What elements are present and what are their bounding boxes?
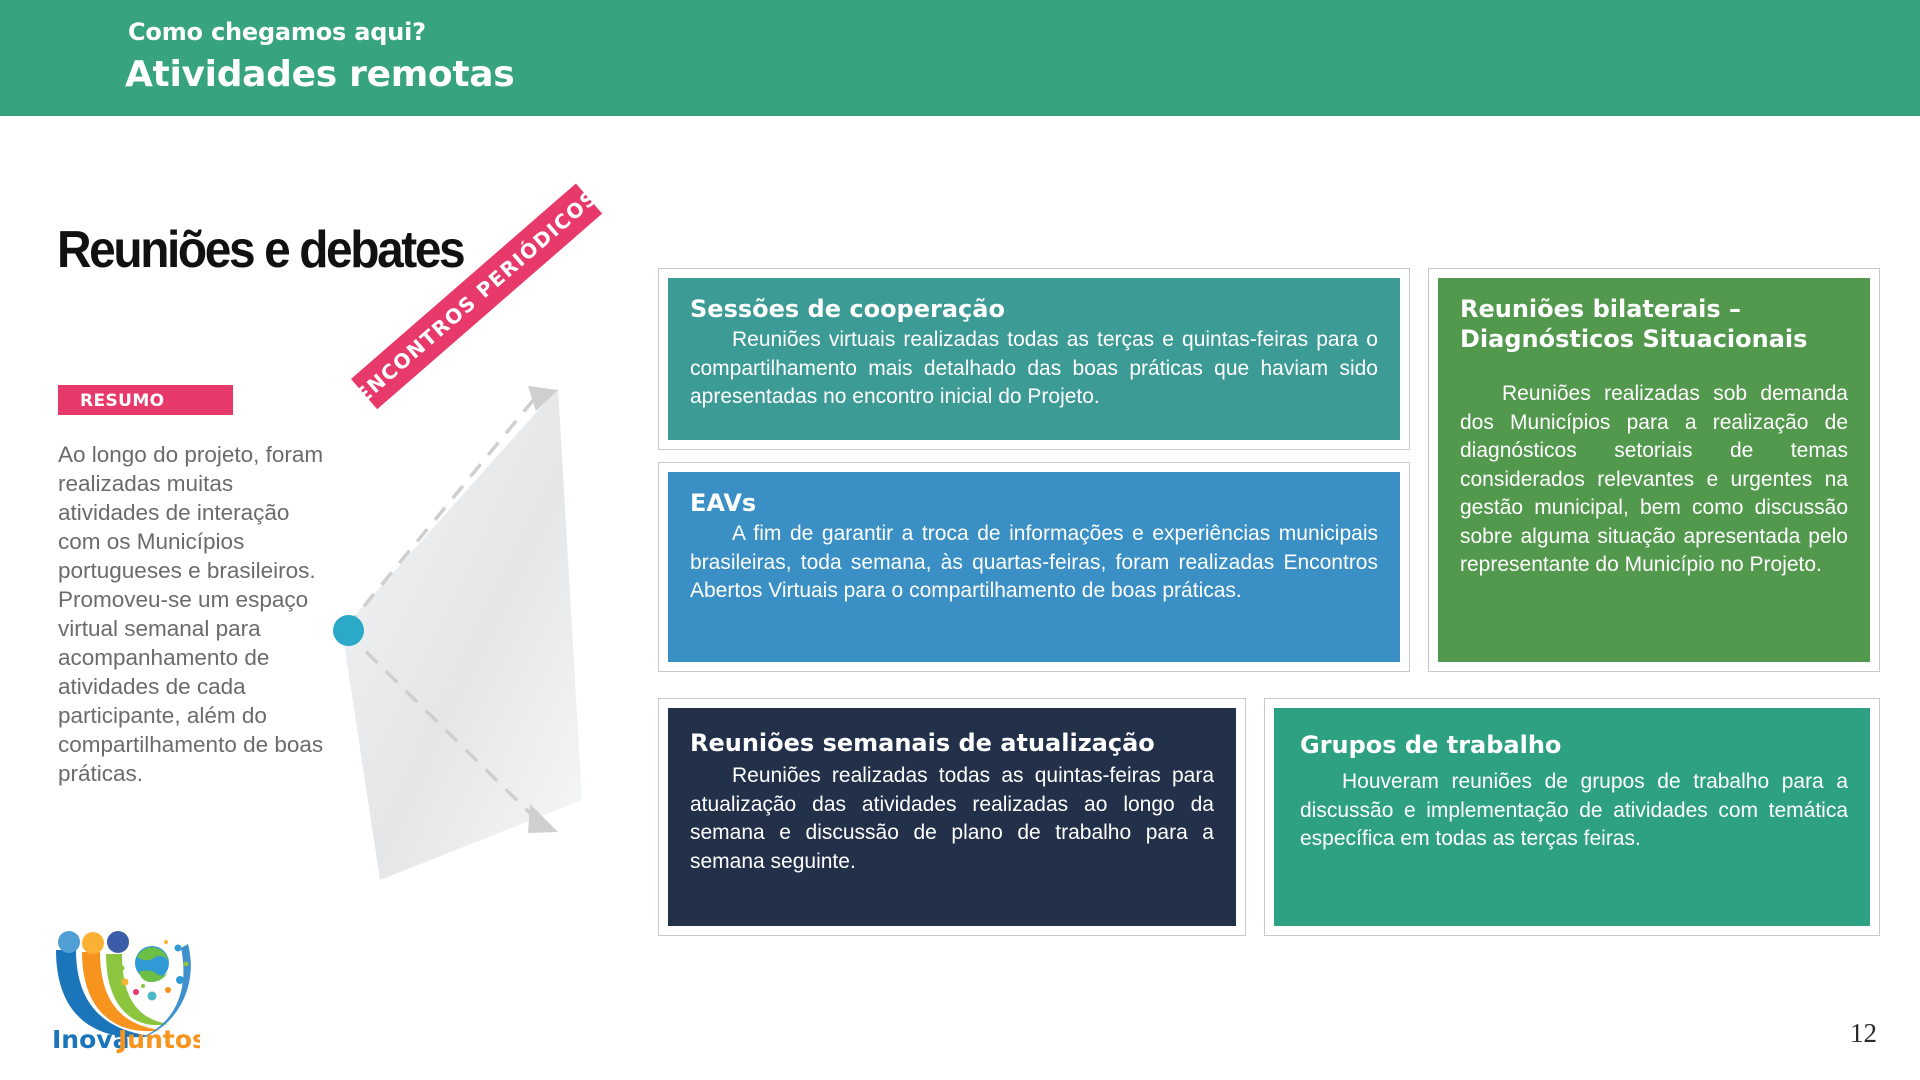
card-text: Reuniões realizadas todas as quintas-fei… bbox=[690, 762, 1214, 876]
header-eyebrow: Como chegamos aqui? bbox=[128, 18, 426, 46]
card-body: Reuniões semanais de atualização Reuniõe… bbox=[668, 708, 1236, 926]
card-body: Grupos de trabalho Houveram reuniões de … bbox=[1274, 708, 1870, 926]
card-title: Reuniões semanais de atualização bbox=[690, 728, 1214, 758]
card-title: EAVs bbox=[690, 488, 1378, 518]
wedge-shape bbox=[342, 388, 582, 880]
card-text: Reuniões realizadas sob demanda dos Muni… bbox=[1460, 380, 1848, 580]
status-badge-label: RESUMO bbox=[80, 391, 165, 411]
status-badge: RESUMO bbox=[58, 385, 233, 415]
card-body: Reuniões bilaterais – Diagnósticos Situa… bbox=[1438, 278, 1870, 662]
card-body: EAVs A fim de garantir a troca de inform… bbox=[668, 472, 1400, 662]
card-sessoes-de-cooperacao[interactable]: Sessões de cooperação Reuniões virtuais … bbox=[658, 268, 1410, 450]
card-reunioes-bilaterais[interactable]: Reuniões bilaterais – Diagnósticos Situa… bbox=[1428, 268, 1880, 672]
pivot-dot-icon bbox=[333, 615, 364, 646]
card-eavs[interactable]: EAVs A fim de garantir a troca de inform… bbox=[658, 462, 1410, 672]
card-text: A fim de garantir a troca de informações… bbox=[690, 520, 1378, 606]
slide-canvas: Como chegamos aqui? Atividades remotas R… bbox=[0, 0, 1920, 1080]
card-grupos-de-trabalho[interactable]: Grupos de trabalho Houveram reuniões de … bbox=[1264, 698, 1880, 936]
slide-header-bar: Como chegamos aqui? Atividades remotas bbox=[0, 0, 1920, 116]
card-body: Sessões de cooperação Reuniões virtuais … bbox=[668, 278, 1400, 440]
card-title: Sessões de cooperação bbox=[690, 294, 1378, 324]
summary-text: Ao longo do projeto, foram realizadas mu… bbox=[58, 440, 326, 788]
page-number: 12 bbox=[1850, 1018, 1877, 1049]
header-title: Atividades remotas bbox=[125, 54, 514, 95]
card-title: Grupos de trabalho bbox=[1300, 730, 1848, 760]
card-text: Houveram reuniões de grupos de trabalho … bbox=[1300, 768, 1848, 854]
card-reunioes-semanais-de-atualizacao[interactable]: Reuniões semanais de atualização Reuniõe… bbox=[658, 698, 1246, 936]
globe-icon bbox=[135, 946, 169, 982]
page-title: Reuniões e debates bbox=[57, 222, 463, 278]
card-text: Reuniões virtuais realizadas todas as te… bbox=[690, 326, 1378, 412]
card-title: Reuniões bilaterais – Diagnósticos Situa… bbox=[1460, 294, 1848, 354]
inovajuntos-logo: Inova Juntos bbox=[48, 920, 200, 1055]
logo-text-secondary: Juntos bbox=[116, 1025, 200, 1054]
